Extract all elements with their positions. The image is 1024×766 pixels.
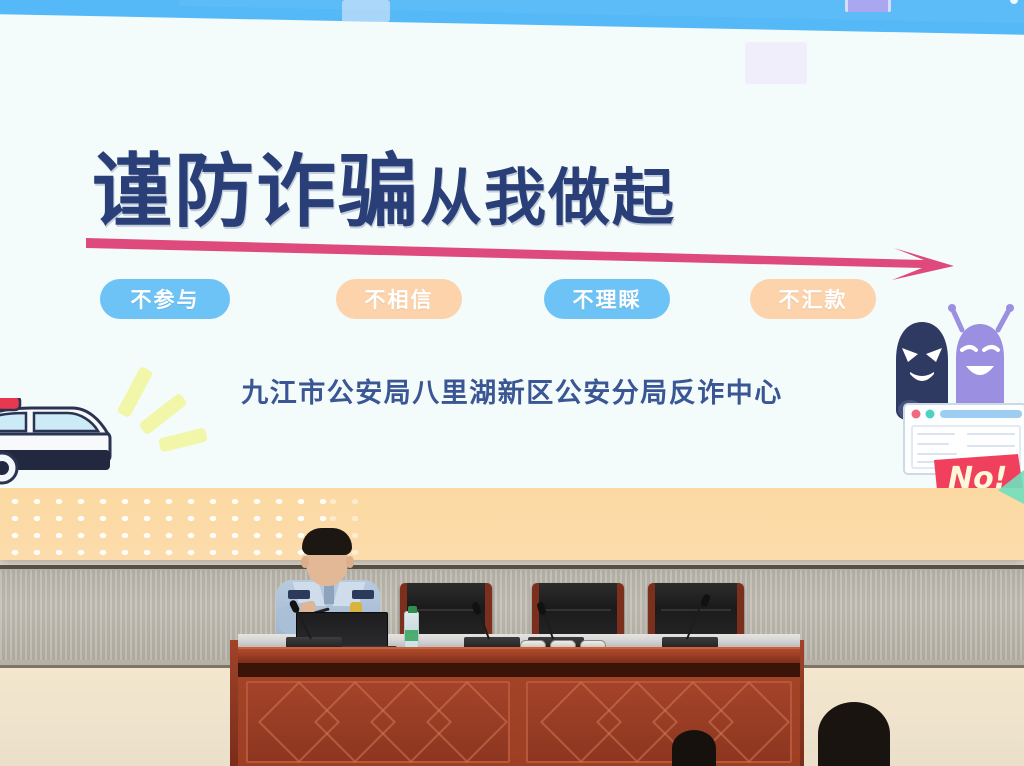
podium-panel-left [246, 681, 510, 763]
yellow-rays-icon [118, 358, 238, 468]
faint-blue-rect [342, 0, 390, 22]
bottom-orange-band [0, 488, 1024, 560]
slogan-pill-3-label: 不理睬 [573, 284, 642, 314]
slogan-pill-4-label: 不汇款 [779, 284, 848, 314]
slogan-pill-2: 不相信 [336, 279, 462, 319]
hacker-illustration-icon: No! [876, 300, 1024, 500]
water-bottle [404, 611, 419, 649]
screenshot-stage: 谨防诈骗从我做起 不参与 不相信 不理睬 不汇款 九江市公安局八里湖新区公安分局… [0, 0, 1024, 766]
slogan-pill-3: 不理睬 [544, 279, 670, 319]
audience-head [672, 730, 716, 766]
audience-head [818, 702, 890, 766]
projection-screen: 谨防诈骗从我做起 不参与 不相信 不理睬 不汇款 九江市公安局八里湖新区公安分局… [0, 0, 1024, 560]
slogan-pill-1: 不参与 [100, 279, 230, 319]
purple-chip-decoration [845, 0, 891, 12]
slogan-pill-2-label: 不相信 [365, 284, 434, 314]
microphone [662, 594, 718, 648]
slide-title-main: 谨防诈骗 [92, 145, 420, 238]
slide-title-sub: 从我做起 [420, 161, 676, 234]
slogan-pill-group: 不参与 不相信 不理睬 不汇款 [100, 279, 940, 325]
slogan-pill-4: 不汇款 [750, 279, 876, 319]
microphone [464, 600, 520, 648]
slogan-pill-1-label: 不参与 [131, 284, 200, 314]
faint-purple-rect [745, 42, 807, 84]
podium-panel-right [526, 681, 792, 763]
slide-title: 谨防诈骗从我做起 [92, 144, 952, 254]
microphone [286, 598, 342, 648]
